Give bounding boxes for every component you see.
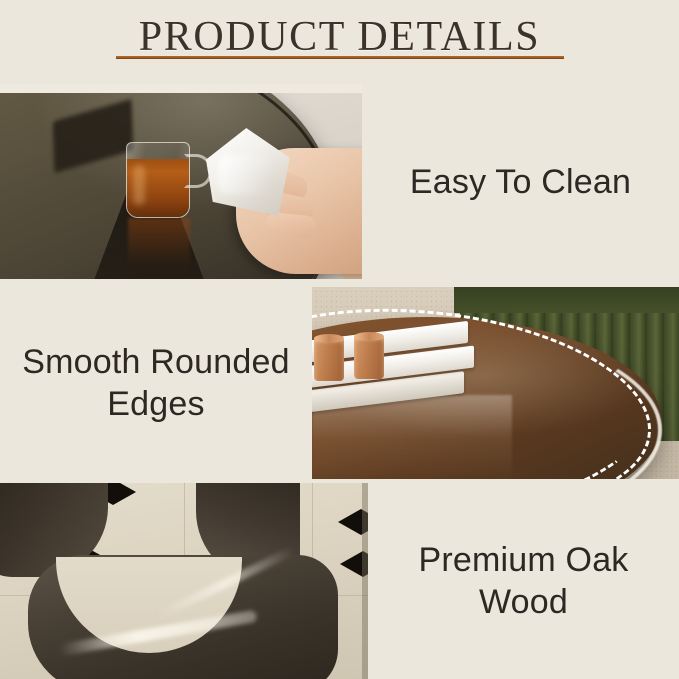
feature-row-easy-to-clean: Easy To Clean (0, 84, 679, 279)
feature-image-easy-to-clean (0, 84, 362, 279)
feature-caption-premium-oak-wood: Premium Oak Wood (368, 483, 679, 679)
caption-text: Smooth Rounded Edges (22, 341, 289, 425)
feature-caption-easy-to-clean: Easy To Clean (362, 84, 679, 279)
caption-text: Easy To Clean (410, 161, 631, 203)
feature-row-premium-oak-wood: Premium Oak Wood (0, 483, 679, 679)
feature-image-premium-oak-wood (0, 483, 368, 679)
mug-reflection (128, 218, 190, 279)
caption-line-2: Wood (479, 583, 568, 621)
curtain-header (454, 287, 679, 313)
feature-row-smooth-rounded-edges: Smooth Rounded Edges (0, 287, 679, 479)
caption-line-1: Premium Oak (418, 541, 628, 579)
image-top-edge (0, 84, 362, 93)
product-details-infographic: PRODUCT DETAILS Easy To C (0, 0, 679, 679)
glass-mug (126, 142, 190, 218)
feature-caption-smooth-rounded-edges: Smooth Rounded Edges (0, 287, 312, 479)
cleaning-cloth-fold (218, 154, 276, 194)
page-title-block: PRODUCT DETAILS (0, 14, 679, 76)
caption-line-1: Smooth Rounded (22, 343, 289, 381)
caption-text: Premium Oak Wood (418, 539, 628, 623)
tea-highlight (133, 165, 145, 205)
title-underline-rule (116, 56, 564, 59)
caption-line-2: Edges (107, 385, 204, 423)
feature-image-smooth-rounded-edges (312, 287, 679, 479)
page-title: PRODUCT DETAILS (139, 14, 540, 60)
